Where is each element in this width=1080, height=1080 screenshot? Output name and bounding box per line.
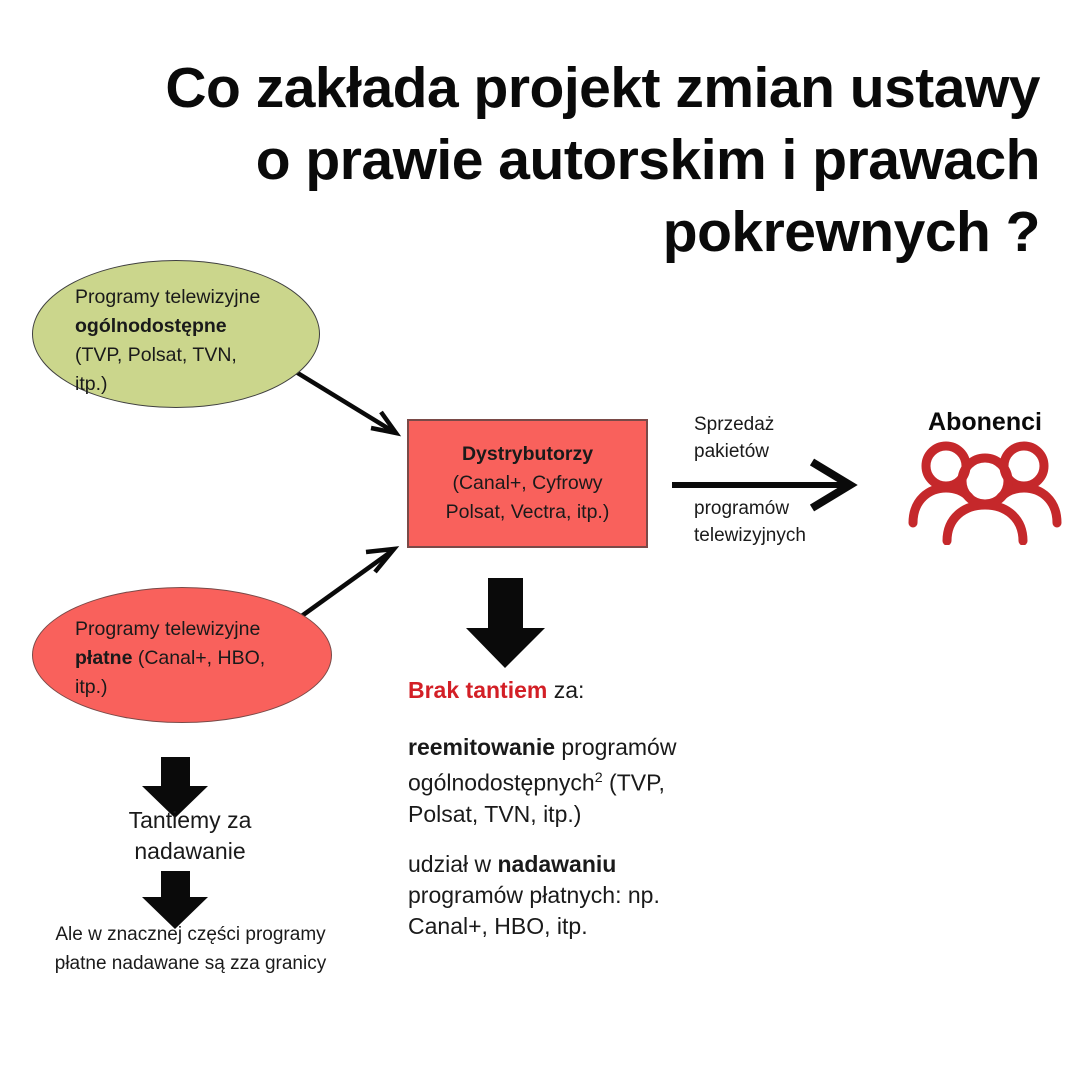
udzial-line2: programów płatnych: np. — [408, 882, 660, 908]
distributors-line2: (Canal+, Cyfrowy — [452, 472, 602, 494]
arrow-broadcast-to-distributors — [296, 372, 396, 433]
reemit-superscript: 2 — [595, 770, 603, 786]
page-title: Co zakłada projekt zmian ustawy o prawie… — [40, 52, 1040, 268]
node-paid-programs-text: Programy telewizyjne płatne (Canal+, HBO… — [75, 615, 313, 702]
heading-accent: Brak tantiem — [408, 677, 547, 703]
udzial-lead: udział w — [408, 851, 497, 877]
label-zza-granicy: Ale w znacznej części programy płatne na… — [18, 920, 363, 978]
paid-bold: płatne — [75, 647, 132, 669]
distributors-title: Dystrybutorzy — [462, 443, 593, 465]
udzial-line3: Canal+, HBO, itp. — [408, 913, 588, 939]
heading-brak-tantiem: Brak tantiem za: — [408, 675, 828, 706]
node-broadcast-programs[interactable]: Programy telewizyjne ogólnodostępne (TVP… — [32, 260, 320, 408]
paid-line3: itp.) — [75, 676, 108, 698]
heading-rest: za: — [547, 677, 584, 703]
reemit-rest: programów — [555, 734, 676, 760]
broadcast-line3: (TVP, Polsat, TVN, — [75, 344, 237, 366]
label-tantiemy-za-nadawanie: Tantiemy za nadawanie — [40, 805, 340, 867]
broadcast-line2-bold: ogólnodostępne — [75, 315, 227, 337]
edge-label-sale-bottom: programów telewizyjnych — [694, 495, 874, 549]
distributors-line3: Polsat, Vectra, itp.) — [446, 501, 610, 523]
paid-line1: Programy telewizyjne — [75, 618, 260, 640]
reemit-line2a: ogólnodostępnych — [408, 770, 595, 796]
node-paid-programs[interactable]: Programy telewizyjne płatne (Canal+, HBO… — [32, 587, 332, 723]
node-broadcast-programs-text: Programy telewizyjne ogólnodostępne (TVP… — [75, 283, 305, 399]
infographic-canvas: Co zakłada projekt zmian ustawy o prawie… — [0, 0, 1080, 1080]
node-distributors-text: Dystrybutorzy (Canal+, Cyfrowy Polsat, V… — [440, 440, 616, 527]
edge-label-sale-top: Sprzedaż pakietów — [694, 411, 874, 465]
reemit-bold: reemitowanie — [408, 734, 555, 760]
node-distributors[interactable]: Dystrybutorzy (Canal+, Cyfrowy Polsat, V… — [407, 419, 648, 548]
reemit-line3: Polsat, TVN, itp.) — [408, 801, 581, 827]
block-arrow-down-distributors — [466, 578, 545, 668]
node-subscribers-label: Abonenci — [890, 408, 1080, 437]
reemit-line2b: (TVP, — [603, 770, 665, 796]
paid-rest: (Canal+, HBO, — [132, 647, 265, 669]
list-item-reemitowanie: reemitowanie programów ogólnodostępnych2… — [408, 732, 738, 830]
broadcast-line1: Programy telewizyjne — [75, 286, 260, 308]
list-item-udzial-w-nadawaniu: udział w nadawaniu programów płatnych: n… — [408, 849, 738, 942]
broadcast-line4: itp.) — [75, 373, 108, 395]
group-of-people-icon — [905, 440, 1065, 545]
udzial-bold: nadawaniu — [497, 851, 616, 877]
